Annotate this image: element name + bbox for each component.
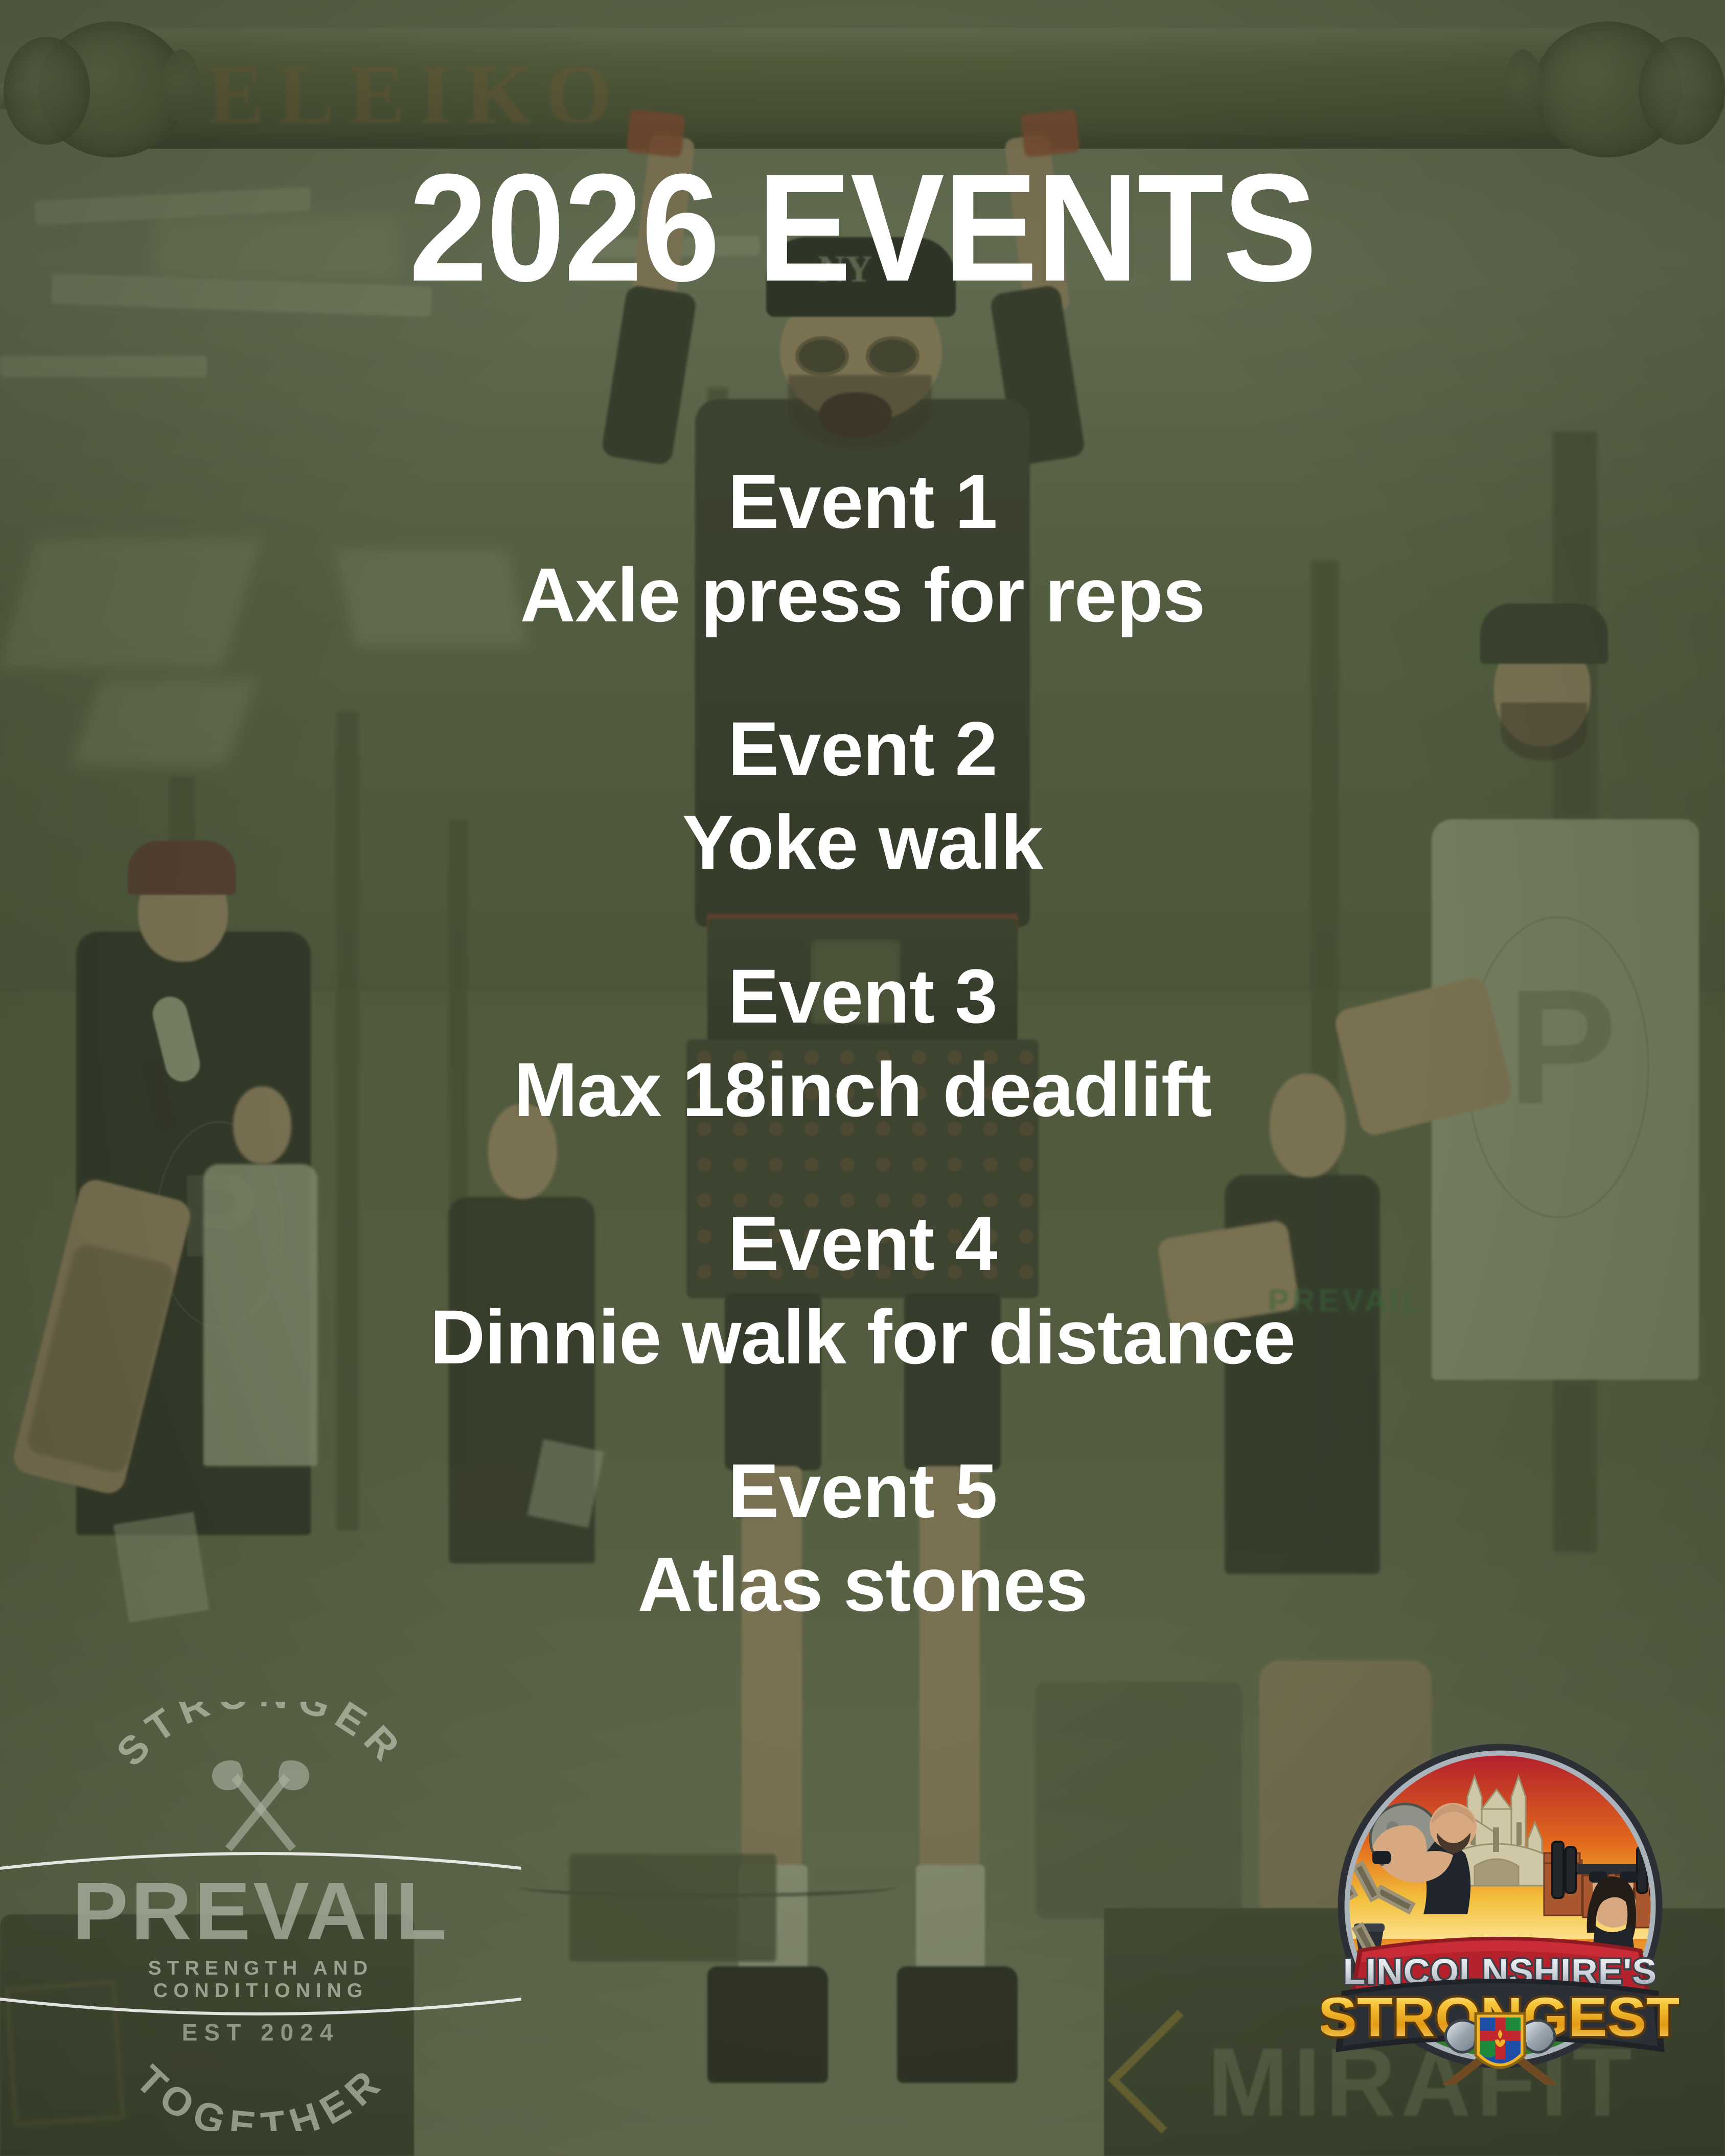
prevail-arc-bottom-text: TOGETHER <box>128 2056 394 2131</box>
prevail-logo: STRONGER PREVAIL STRENGTH AND CONDITIONI… <box>77 1702 445 2105</box>
poster-content: 2026 EVENTS Event 1 Axle press for reps … <box>0 0 1725 2156</box>
event-name: Axle press for reps <box>0 548 1725 642</box>
crossed-axes-icon <box>207 1755 314 1852</box>
event-number: Event 1 <box>0 455 1725 548</box>
event-name: Atlas stones <box>0 1538 1725 1631</box>
prevail-arc-bottom-svg: TOGETHER <box>77 2029 445 2131</box>
event-number: Event 3 <box>0 949 1725 1043</box>
poster-canvas: ELEIKO NY <box>0 0 1725 2156</box>
list-item: Event 3 Max 18inch deadlift <box>0 949 1725 1137</box>
event-name: Yoke walk <box>0 796 1725 889</box>
list-item: Event 5 Atlas stones <box>0 1444 1725 1631</box>
event-number: Event 5 <box>0 1444 1725 1538</box>
events-list: Event 1 Axle press for reps Event 2 Yoke… <box>0 455 1725 1631</box>
page-title: 2026 EVENTS <box>69 151 1656 304</box>
list-item: Event 2 Yoke walk <box>0 702 1725 889</box>
list-item: Event 4 Dinnie walk for distance <box>0 1197 1725 1384</box>
event-number: Event 4 <box>0 1197 1725 1290</box>
lincolnshires-strongest-logo: LINCOLNSHIRE'S STRONGEST <box>1321 1732 1679 2085</box>
prevail-wordmark: PREVAIL <box>71 1870 450 1952</box>
event-name: Dinnie walk for distance <box>0 1290 1725 1384</box>
event-name: Max 18inch deadlift <box>0 1043 1725 1137</box>
event-number: Event 2 <box>0 702 1725 796</box>
list-item: Event 1 Axle press for reps <box>0 455 1725 642</box>
lincs-logo-svg: LINCOLNSHIRE'S STRONGEST <box>1321 1732 1679 2085</box>
